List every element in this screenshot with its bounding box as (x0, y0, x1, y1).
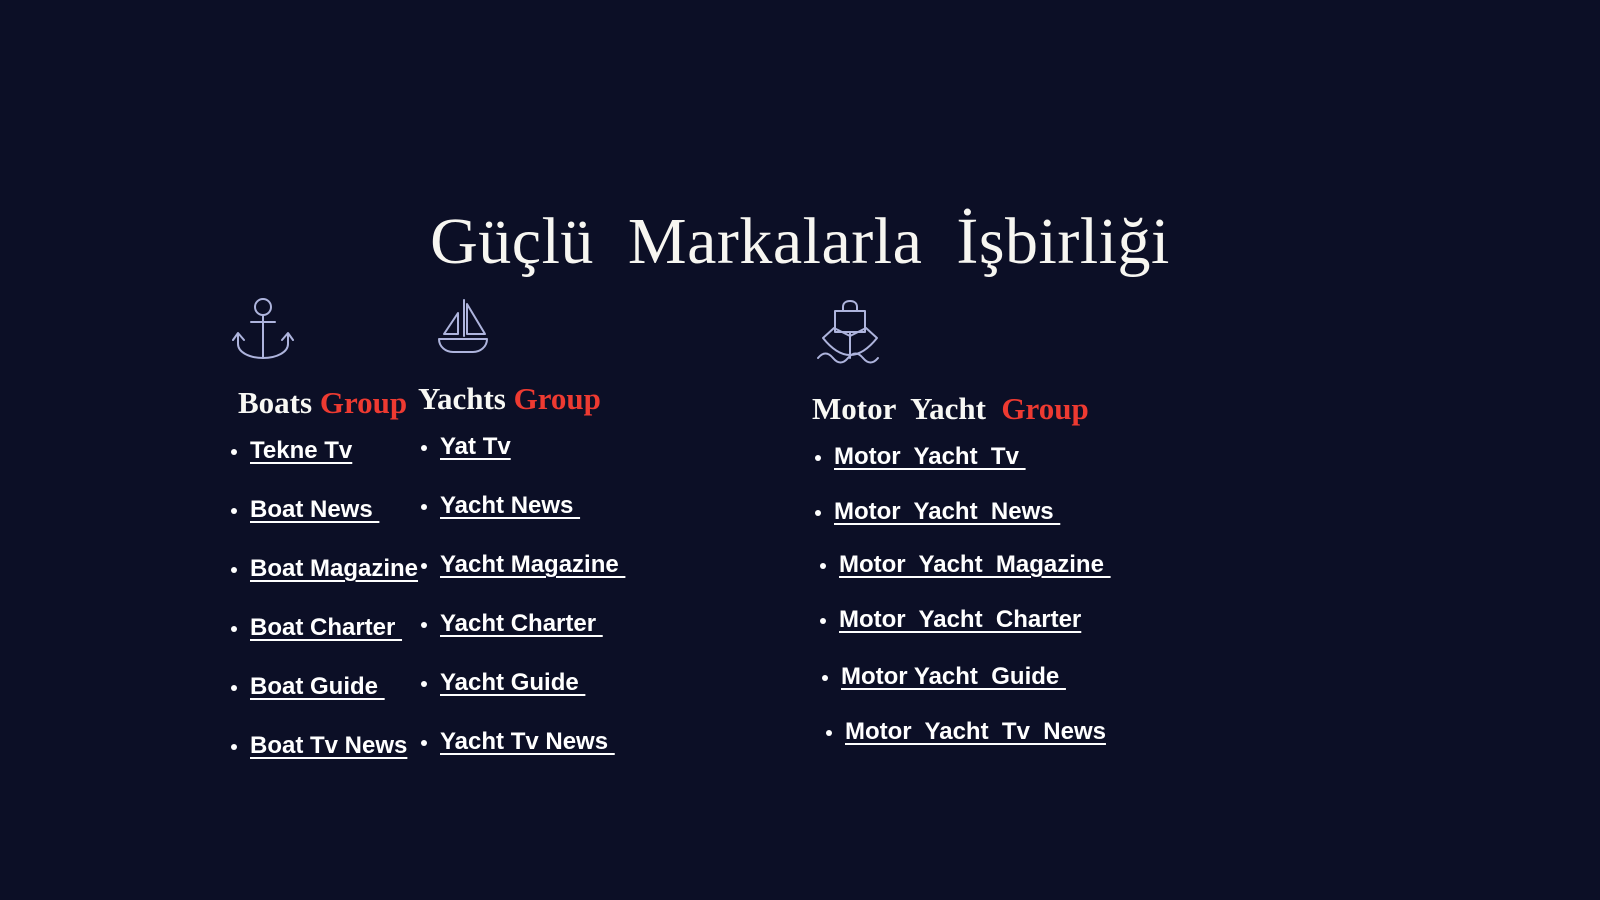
list-item: Boat Charter (228, 613, 400, 646)
link-yacht-charter[interactable]: Yacht Charter (440, 610, 603, 637)
list-item: Boat Magazine (228, 554, 400, 587)
list-item: Motor Yacht Magazine (817, 550, 1230, 583)
link-boat-tv-news[interactable]: Boat Tv News (250, 732, 407, 759)
list-item: Motor Yacht Tv (812, 442, 1230, 475)
group-heading-boats: Boats Group (228, 384, 400, 422)
link-yacht-tv-news[interactable]: Yacht Tv News (440, 728, 615, 755)
link-yacht-magazine[interactable]: Yacht Magazine (440, 551, 625, 578)
link-motor-yacht-tv[interactable]: Motor Yacht Tv (834, 443, 1026, 470)
brand-group-boats: Boats Group Tekne Tv Boat News Boat Maga… (0, 296, 400, 764)
link-motor-yacht-news[interactable]: Motor Yacht News (834, 498, 1060, 525)
link-boat-news[interactable]: Boat News (250, 496, 379, 523)
sailboat-icon (432, 296, 790, 358)
list-item: Yacht News (418, 491, 790, 524)
anchor-icon (232, 296, 400, 362)
brand-group-motor-yacht: Motor Yacht Group Motor Yacht Tv Motor Y… (790, 296, 1230, 750)
list-item: Motor Yacht News (812, 497, 1230, 530)
brand-groups-container: Boats Group Tekne Tv Boat News Boat Maga… (0, 296, 1600, 764)
link-list-yachts: Yat Tv Yacht News Yacht Magazine Yacht C… (418, 432, 790, 760)
group-heading-motor-yacht: Motor Yacht Group (812, 390, 1230, 428)
motor-yacht-icon (812, 296, 1230, 372)
link-boat-charter[interactable]: Boat Charter (250, 614, 402, 641)
link-list-boats: Tekne Tv Boat News Boat Magazine Boat Ch… (228, 436, 400, 764)
group-heading-main: Motor Yacht (812, 391, 1001, 426)
list-item: Yat Tv (418, 432, 790, 465)
group-heading-yachts: Yachts Group (418, 380, 790, 418)
link-yat-tv[interactable]: Yat Tv (440, 433, 511, 460)
group-heading-accent: Group (514, 381, 601, 416)
link-yacht-news[interactable]: Yacht News (440, 492, 580, 519)
list-item: Motor Yacht Tv News (823, 717, 1230, 750)
link-boat-magazine[interactable]: Boat Magazine (250, 555, 418, 582)
list-item: Boat Guide (228, 672, 400, 705)
list-item: Tekne Tv (228, 436, 400, 469)
link-boat-guide[interactable]: Boat Guide (250, 673, 385, 700)
partners-section: Güçlü Markalarla İşbirliği Boats Group T… (0, 0, 1600, 900)
group-heading-accent: Group (1001, 391, 1088, 426)
list-item: Boat Tv News (228, 731, 400, 764)
group-heading-accent: Group (320, 385, 407, 420)
group-heading-main: Boats (238, 385, 320, 420)
list-item: Motor Yacht Guide (819, 662, 1230, 695)
link-motor-yacht-magazine[interactable]: Motor Yacht Magazine (839, 551, 1111, 578)
list-item: Boat News (228, 495, 400, 528)
link-motor-yacht-tv-news[interactable]: Motor Yacht Tv News (845, 718, 1106, 745)
link-list-motor-yacht: Motor Yacht Tv Motor Yacht News Motor Ya… (812, 442, 1230, 750)
link-yacht-guide[interactable]: Yacht Guide (440, 669, 585, 696)
page-title: Güçlü Markalarla İşbirliği (0, 202, 1600, 282)
list-item: Yacht Guide (418, 668, 790, 701)
link-tekne-tv[interactable]: Tekne Tv (250, 437, 352, 464)
list-item: Motor Yacht Charter (817, 605, 1230, 638)
link-motor-yacht-charter[interactable]: Motor Yacht Charter (839, 606, 1081, 633)
list-item: Yacht Tv News (418, 727, 790, 760)
link-motor-yacht-guide[interactable]: Motor Yacht Guide (841, 663, 1066, 690)
brand-group-yachts: Yachts Group Yat Tv Yacht News Yacht Mag… (400, 296, 790, 760)
group-heading-main: Yachts (418, 381, 514, 416)
list-item: Yacht Magazine (418, 550, 790, 583)
list-item: Yacht Charter (418, 609, 790, 642)
